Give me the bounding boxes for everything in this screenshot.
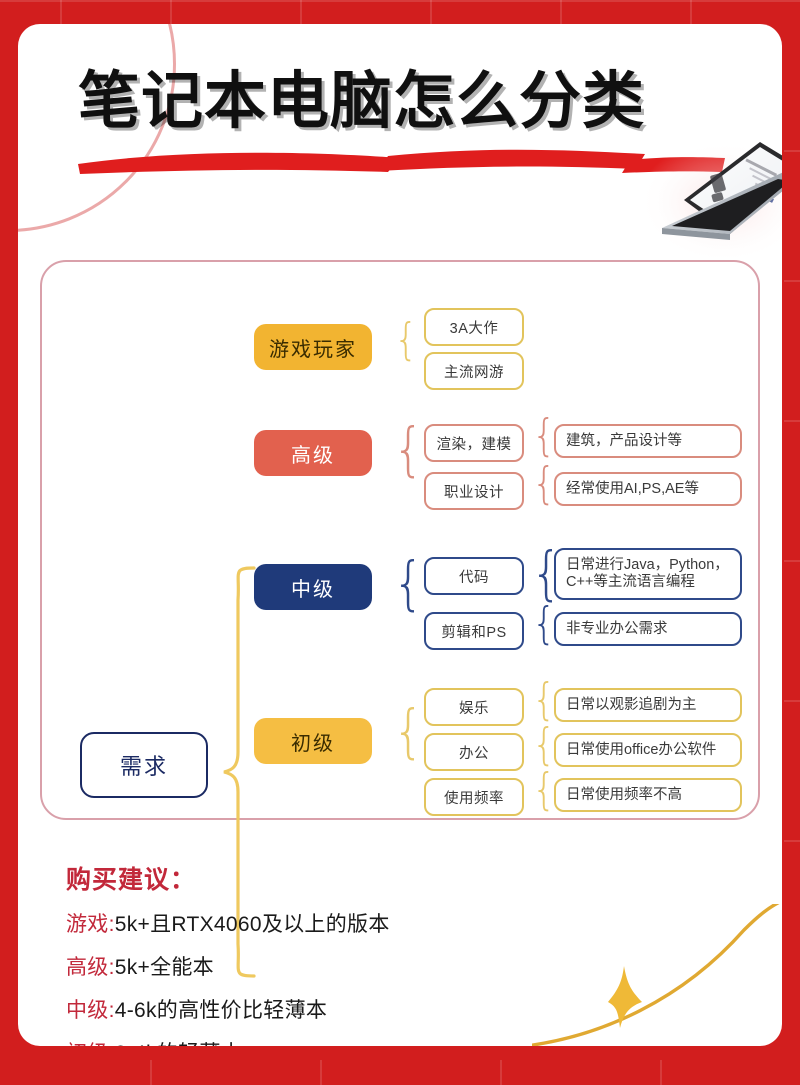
sub-node-usage-frequency[interactable]: 使用频率 <box>424 778 524 816</box>
sub-node-office-label: 办公 <box>459 742 489 763</box>
tier-node-intermediate[interactable]: 中级 <box>254 564 372 610</box>
brace-advanced-icon: { <box>393 420 424 478</box>
detail-node-office-software-label: 日常使用office办公软件 <box>566 742 716 759</box>
advice-key: 初级: <box>66 1042 115 1046</box>
brace-frequency-detail-icon: { <box>532 768 556 812</box>
brace-gamer-icon: { <box>394 318 418 362</box>
laptop-illustration-icon <box>638 136 782 266</box>
brace-intermediate-icon: { <box>393 554 424 612</box>
brace-office-detail-icon: { <box>532 723 556 767</box>
brace-design-detail-icon: { <box>532 462 556 506</box>
tier-node-advanced-label: 高级 <box>291 439 335 468</box>
advice-row: 游戏:5k+且RTX4060及以上的版本 <box>66 908 726 938</box>
root-node-label: 需求 <box>120 749 168 781</box>
page-title: 笔记本电脑怎么分类 <box>78 62 718 142</box>
root-node-demand[interactable]: 需求 <box>80 732 208 798</box>
sub-node-online-games[interactable]: 主流网游 <box>424 352 524 390</box>
brace-render-detail-icon: { <box>532 414 556 458</box>
sub-node-usage-frequency-label: 使用频率 <box>444 787 504 808</box>
detail-node-watching-label: 日常以观影追剧为主 <box>566 697 697 714</box>
advice-key: 游戏: <box>66 913 115 936</box>
sub-node-office[interactable]: 办公 <box>424 733 524 771</box>
tier-node-advanced[interactable]: 高级 <box>254 430 372 476</box>
red-brush-underline-icon <box>70 142 730 176</box>
sub-node-entertainment[interactable]: 娱乐 <box>424 688 524 726</box>
sub-node-entertainment-label: 娱乐 <box>459 697 489 718</box>
detail-node-low-frequency-label: 日常使用频率不高 <box>566 787 682 804</box>
detail-node-watching[interactable]: 日常以观影追剧为主 <box>554 688 742 722</box>
detail-node-programming-label: 日常进行Java，Python，C++等主流语言编程 <box>566 557 730 591</box>
tier-node-beginner[interactable]: 初级 <box>254 718 372 764</box>
poster-card: 笔记本电脑怎么分类 <box>18 24 782 1046</box>
brace-editing-detail-icon: { <box>532 602 556 646</box>
detail-node-office-software[interactable]: 日常使用office办公软件 <box>554 733 742 767</box>
advice-value: 5k+且RTX4060及以上的版本 <box>115 913 390 936</box>
detail-node-architecture[interactable]: 建筑，产品设计等 <box>554 424 742 458</box>
tier-node-intermediate-label: 中级 <box>291 573 335 602</box>
sub-node-pro-design-label: 职业设计 <box>444 481 504 502</box>
detail-node-adobe-label: 经常使用AI,PS,AE等 <box>566 481 699 498</box>
advice-row: 初级:3-4k的轻薄本 <box>66 1037 726 1046</box>
advice-row: 中级:4-6k的高性价比轻薄本 <box>66 994 726 1024</box>
sub-node-code[interactable]: 代码 <box>424 557 524 595</box>
advice-row: 高级:5k+全能本 <box>66 951 726 981</box>
purchase-advice-section: 购买建议： 游戏:5k+且RTX4060及以上的版本 高级:5k+全能本 中级:… <box>66 860 726 1046</box>
tier-node-gamer-label: 游戏玩家 <box>269 333 357 362</box>
tier-node-beginner-label: 初级 <box>291 727 335 756</box>
advice-value: 4-6k的高性价比轻薄本 <box>115 999 327 1022</box>
detail-node-low-frequency[interactable]: 日常使用频率不高 <box>554 778 742 812</box>
detail-node-nonpro-office-label: 非专业办公需求 <box>566 621 668 638</box>
detail-node-architecture-label: 建筑，产品设计等 <box>566 433 682 450</box>
advice-value: 3-4k的轻薄本 <box>115 1042 242 1046</box>
sub-node-editing-ps-label: 剪辑和PS <box>441 621 506 642</box>
tier-node-gamer[interactable]: 游戏玩家 <box>254 324 372 370</box>
purchase-advice-title: 购买建议： <box>66 860 726 896</box>
advice-key: 高级: <box>66 956 115 979</box>
sub-node-code-label: 代码 <box>459 566 489 587</box>
brace-beginner-icon: { <box>393 702 424 760</box>
advice-value: 5k+全能本 <box>115 956 214 979</box>
sub-node-editing-ps[interactable]: 剪辑和PS <box>424 612 524 650</box>
sub-node-render[interactable]: 渲染，建模 <box>424 424 524 462</box>
sub-node-pro-design[interactable]: 职业设计 <box>424 472 524 510</box>
detail-node-programming[interactable]: 日常进行Java，Python，C++等主流语言编程 <box>554 548 742 600</box>
sub-node-3a-label: 3A大作 <box>450 317 499 338</box>
sub-node-3a[interactable]: 3A大作 <box>424 308 524 346</box>
advice-key: 中级: <box>66 999 115 1022</box>
detail-node-adobe[interactable]: 经常使用AI,PS,AE等 <box>554 472 742 506</box>
mindmap-panel: 需求 游戏玩家 { 3A大作 主流网游 高级 { 渲染，建模 { 建筑，产品设计… <box>40 260 760 820</box>
sub-node-online-games-label: 主流网游 <box>444 361 504 382</box>
brace-entertainment-detail-icon: { <box>532 678 556 722</box>
sub-node-render-label: 渲染，建模 <box>437 433 512 454</box>
detail-node-nonpro-office[interactable]: 非专业办公需求 <box>554 612 742 646</box>
